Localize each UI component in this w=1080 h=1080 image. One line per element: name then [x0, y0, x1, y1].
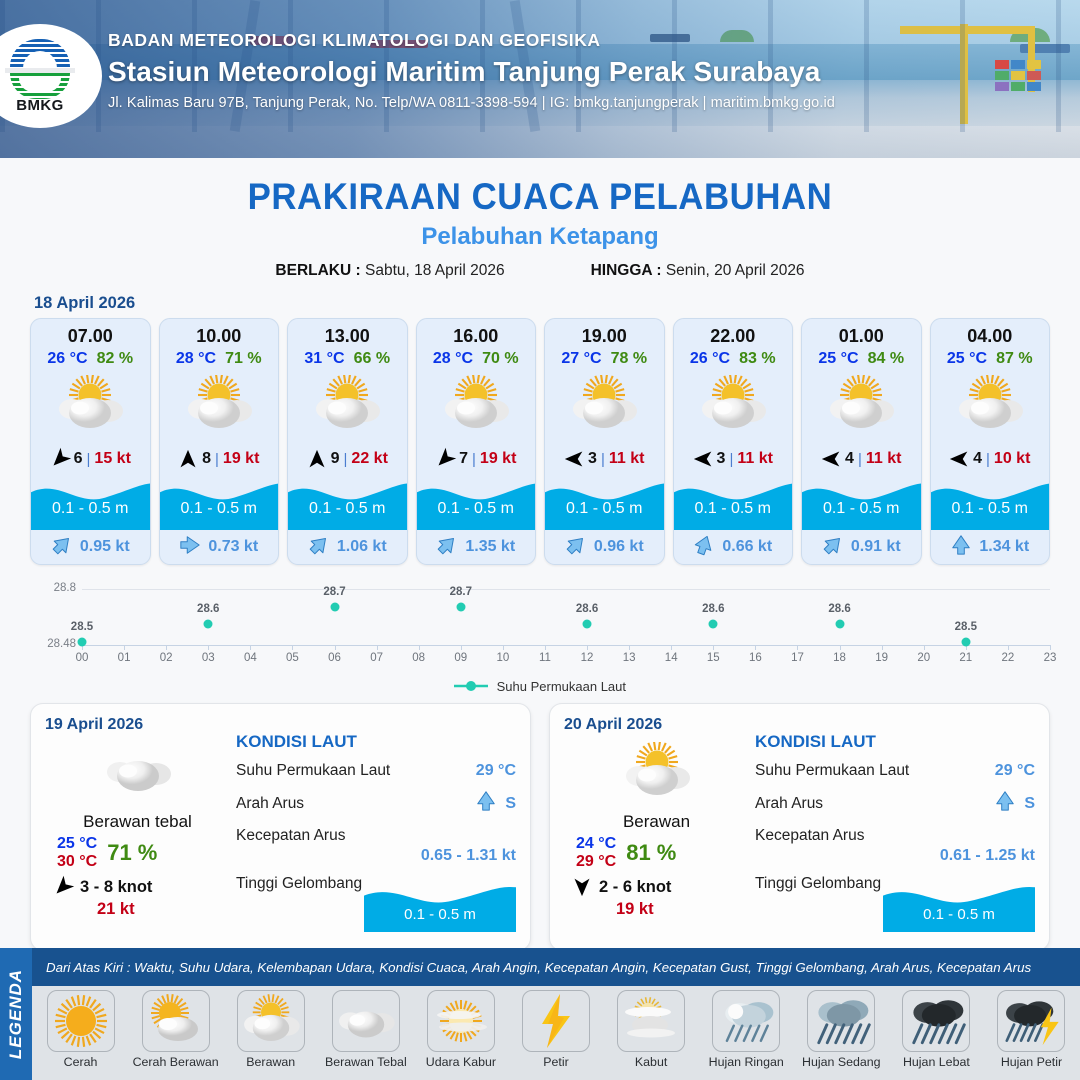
x-axis [82, 645, 1050, 646]
wind-direction-arrow-icon [821, 449, 841, 469]
daily-left-column: 20 April 2026 Berawan 24 °C 29 °C 81 % 2… [564, 716, 749, 936]
card-current-row: 0.95 kt [31, 530, 150, 564]
x-axis-tick-label: 20 [917, 652, 930, 664]
x-axis-tick [250, 645, 251, 650]
sst-legend-label: Suhu Permukaan Laut [497, 679, 626, 694]
legend-item-label: Berawan [224, 1055, 317, 1069]
current-direction-arrow-icon [822, 534, 844, 561]
data-point [961, 637, 970, 646]
wind-direction-arrow-icon [693, 449, 713, 469]
sun-behind-cloud-icon [31, 368, 150, 442]
y-axis-label-bottom: 28.48 [30, 638, 76, 650]
daily-forecast-card: 19 April 2026 Berawan tebal 25 °C 30 °C … [30, 703, 531, 951]
legend-item: Hujan Ringan [700, 990, 793, 1069]
sun-behind-cloud-icon [564, 738, 749, 806]
card-current-speed: 0.66 kt [722, 538, 772, 556]
hourly-card: 01.00 25 °C 84 % 4 | 11 kt 0.1 - 0.5 m [801, 318, 922, 565]
sst-chart-legend: Suhu Permukaan Laut [0, 679, 1080, 695]
legend-item-label: Hujan Ringan [700, 1055, 793, 1069]
data-point [583, 620, 592, 629]
daily-gust: 19 kt [564, 900, 749, 919]
x-axis-tick [208, 645, 209, 650]
daily-temp-col: 24 °C 29 °C [576, 835, 616, 871]
daily-wind-speed: 3 - 8 knot [80, 878, 152, 897]
card-temp-hum-row: 25 °C 87 % [931, 350, 1050, 368]
daily-temp-min: 24 °C [576, 835, 616, 853]
card-temp-hum-row: 28 °C 71 % [160, 350, 279, 368]
daily-date: 19 April 2026 [45, 716, 230, 734]
daily-humidity: 71 % [107, 840, 157, 866]
daily-temp-hum: 24 °C 29 °C 81 % [564, 835, 749, 871]
data-point-label: 28.7 [450, 586, 472, 598]
card-temperature: 25 °C [947, 350, 987, 368]
daily-wave-height: 0.1 - 0.5 m [883, 906, 1035, 923]
data-point [456, 602, 465, 611]
x-axis-tick [335, 645, 336, 650]
card-temp-hum-row: 25 °C 84 % [802, 350, 921, 368]
card-wave-height: 0.1 - 0.5 m [160, 500, 279, 518]
card-current-row: 0.96 kt [545, 530, 664, 564]
card-gust: 10 kt [994, 450, 1030, 468]
legend-item: Petir [509, 990, 602, 1069]
card-wind-row: 6 | 15 kt [31, 442, 150, 476]
card-wave-height: 0.1 - 0.5 m [802, 500, 921, 518]
wind-direction-arrow-icon [949, 449, 969, 469]
current-direction-label: Arah Arus [236, 795, 304, 813]
card-humidity: 71 % [225, 350, 261, 368]
card-temp-hum-row: 27 °C 78 % [545, 350, 664, 368]
card-humidity: 78 % [611, 350, 647, 368]
x-axis-tick [461, 645, 462, 650]
sst-value: 29 °C [476, 762, 516, 780]
data-point [835, 620, 844, 629]
legend-item-label: Cerah Berawan [129, 1055, 222, 1069]
station-name: Stasiun Meteorologi Maritim Tanjung Pera… [108, 56, 835, 88]
daily-wave-band: 0.1 - 0.5 m [883, 880, 1035, 932]
daily-wave-band: 0.1 - 0.5 m [364, 880, 516, 932]
card-temp-hum-row: 26 °C 83 % [674, 350, 793, 368]
heavy-rain-icon [902, 990, 970, 1052]
current-speed-row: Kecepatan Arus [236, 827, 516, 845]
agency-name: BADAN METEOROLOGI KLIMATOLOGI DAN GEOFIS… [108, 30, 835, 51]
card-humidity: 84 % [868, 350, 904, 368]
logo-text: BMKG [3, 97, 77, 114]
card-temperature: 28 °C [433, 350, 473, 368]
card-temperature: 27 °C [561, 350, 601, 368]
x-axis-tick [1050, 645, 1051, 650]
card-time: 13.00 [288, 319, 407, 347]
current-direction-arrow-icon [51, 534, 73, 561]
x-axis-tick [797, 645, 798, 650]
x-axis-tick [924, 645, 925, 650]
current-speed-row: Kecepatan Arus [755, 827, 1035, 845]
current-direction-value-group: S [994, 790, 1035, 817]
x-axis-tick [882, 645, 883, 650]
legend-item: Kabut [605, 990, 698, 1069]
card-temperature: 31 °C [304, 350, 344, 368]
wind-direction-arrow-icon [572, 877, 592, 897]
card-humidity: 70 % [482, 350, 518, 368]
sun-behind-cloud-icon [802, 368, 921, 442]
card-gust: 11 kt [609, 450, 645, 468]
current-direction-row: Arah Arus S [236, 790, 516, 817]
daily-forecast-card: 20 April 2026 Berawan 24 °C 29 °C 81 % 2… [549, 703, 1050, 951]
daily-humidity: 81 % [626, 840, 676, 866]
card-time: 04.00 [931, 319, 1050, 347]
card-wave-band: 0.1 - 0.5 m [417, 476, 536, 530]
x-axis-tick-label: 11 [539, 652, 551, 664]
legend-item: Cerah [34, 990, 127, 1069]
card-time: 16.00 [417, 319, 536, 347]
card-gust: 11 kt [737, 450, 773, 468]
wind-direction-arrow-icon [53, 877, 73, 897]
daily-temp-max: 29 °C [576, 853, 616, 871]
berlaku-group: BERLAKU : Sabtu, 18 April 2026 [275, 262, 504, 280]
current-direction-value: S [505, 795, 516, 813]
daily-wind-row: 2 - 6 knot [564, 877, 749, 897]
x-axis-tick-label: 12 [581, 652, 594, 664]
header-text-block: BADAN METEOROLOGI KLIMATOLOGI DAN GEOFIS… [108, 30, 835, 111]
lightning-icon [522, 990, 590, 1052]
daily-forecast-row: 19 April 2026 Berawan tebal 25 °C 30 °C … [0, 695, 1080, 951]
card-time: 19.00 [545, 319, 664, 347]
card-current-speed: 1.06 kt [337, 538, 387, 556]
card-humidity: 83 % [739, 350, 775, 368]
x-axis-tick-label: 02 [160, 652, 173, 664]
x-axis-tick-label: 15 [707, 652, 720, 664]
hourly-card: 19.00 27 °C 78 % 3 | 11 kt 0.1 - 0.5 m [544, 318, 665, 565]
card-wind-speed: 8 [202, 450, 211, 468]
wind-direction-arrow-icon [178, 449, 198, 469]
sun-behind-cloud-icon [545, 368, 664, 442]
page-title: PRAKIRAAN CUACA PELABUHAN [32, 176, 1047, 218]
card-time: 07.00 [31, 319, 150, 347]
current-direction-arrow-icon [565, 534, 587, 561]
card-humidity: 87 % [996, 350, 1032, 368]
daily-sea-conditions: KONDISI LAUT Suhu Permukaan Laut 29 °C A… [749, 716, 1035, 936]
card-current-speed: 0.91 kt [851, 538, 901, 556]
data-point [78, 637, 87, 646]
legend-section: LEGENDA Dari Atas Kiri : Waktu, Suhu Uda… [0, 948, 1080, 1080]
sst-chart-plot: 28.828.480001020304050607080910111213141… [30, 579, 1050, 661]
x-axis-tick-label: 23 [1044, 652, 1057, 664]
card-wind-speed: 6 [74, 450, 83, 468]
current-direction-arrow-icon [950, 534, 972, 561]
current-direction-arrow-icon [308, 534, 330, 561]
card-wind-row: 7 | 19 kt [417, 442, 536, 476]
daily-temp-hum: 25 °C 30 °C 71 % [45, 835, 230, 871]
card-wave-band: 0.1 - 0.5 m [160, 476, 279, 530]
wave-height-label: Tinggi Gelombang [236, 875, 362, 893]
current-speed-label: Kecepatan Arus [236, 827, 345, 845]
x-axis-tick-label: 22 [1002, 652, 1015, 664]
card-temperature: 25 °C [818, 350, 858, 368]
card-wave-band: 0.1 - 0.5 m [31, 476, 150, 530]
x-axis-tick-label: 05 [286, 652, 299, 664]
card-wind-row: 3 | 11 kt [674, 442, 793, 476]
legend-item: Hujan Sedang [795, 990, 888, 1069]
hourly-date-label: 18 April 2026 [34, 294, 1080, 313]
sun-behind-small-cloud-icon [142, 990, 210, 1052]
x-axis-tick [713, 645, 714, 650]
moderate-rain-icon [807, 990, 875, 1052]
x-axis-tick-label: 14 [665, 652, 678, 664]
sea-conditions-title: KONDISI LAUT [236, 732, 516, 752]
legend-side-label: LEGENDA [6, 969, 26, 1059]
x-axis-tick-label: 17 [791, 652, 804, 664]
x-axis-tick [840, 645, 841, 650]
separator: | [87, 451, 91, 468]
card-wind-speed: 9 [331, 450, 340, 468]
cloud-icon [332, 990, 400, 1052]
hourly-card: 16.00 28 °C 70 % 7 | 19 kt 0.1 - 0.5 m [416, 318, 537, 565]
card-wave-height: 0.1 - 0.5 m [31, 500, 150, 518]
daily-condition: Berawan tebal [45, 812, 230, 832]
daily-wind-speed: 2 - 6 knot [599, 878, 671, 897]
card-current-row: 0.73 kt [160, 530, 279, 564]
card-current-row: 1.06 kt [288, 530, 407, 564]
card-temperature: 26 °C [47, 350, 87, 368]
hourly-card: 04.00 25 °C 87 % 4 | 10 kt 0.1 - 0.5 m [930, 318, 1051, 565]
daily-condition: Berawan [564, 812, 749, 832]
current-direction-row: Arah Arus S [755, 790, 1035, 817]
card-current-row: 1.34 kt [931, 530, 1050, 564]
data-point [204, 620, 213, 629]
daily-temp-max: 30 °C [57, 853, 97, 871]
berlaku-label: BERLAKU : [275, 262, 360, 279]
daily-temp-min: 25 °C [57, 835, 97, 853]
legend-item-label: Berawan Tebal [319, 1055, 412, 1069]
daily-date: 20 April 2026 [564, 716, 749, 734]
card-wave-band: 0.1 - 0.5 m [545, 476, 664, 530]
current-speed-value: 0.61 - 1.25 kt [755, 847, 1035, 865]
data-point-label: 28.6 [197, 603, 219, 615]
sst-value: 29 °C [995, 762, 1035, 780]
separator: | [344, 451, 348, 468]
page-header: BMKG BADAN METEOROLOGI KLIMATOLOGI DAN G… [0, 0, 1080, 158]
daily-sea-conditions: KONDISI LAUT Suhu Permukaan Laut 29 °C A… [230, 716, 516, 936]
x-axis-tick [419, 645, 420, 650]
page-subtitle: Pelabuhan Ketapang [0, 223, 1080, 251]
x-axis-tick [503, 645, 504, 650]
current-direction-label: Arah Arus [755, 795, 823, 813]
hourly-card: 07.00 26 °C 82 % 6 | 15 kt 0.1 - 0.5 m [30, 318, 151, 565]
legend-item: Udara Kabur [414, 990, 507, 1069]
card-wind-speed: 7 [459, 450, 468, 468]
x-axis-tick-label: 21 [959, 652, 972, 664]
separator: | [986, 451, 990, 468]
card-wave-height: 0.1 - 0.5 m [288, 500, 407, 518]
card-wind-speed: 3 [717, 450, 726, 468]
card-current-speed: 0.73 kt [208, 538, 258, 556]
legend-side-tab: LEGENDA [0, 948, 32, 1080]
x-axis-tick-label: 18 [833, 652, 846, 664]
x-axis-tick-label: 16 [749, 652, 762, 664]
data-point-label: 28.6 [576, 603, 598, 615]
sun-behind-cloud-icon [674, 368, 793, 442]
wind-direction-arrow-icon [307, 449, 327, 469]
card-current-row: 0.66 kt [674, 530, 793, 564]
card-gust: 11 kt [866, 450, 902, 468]
card-wind-speed: 4 [845, 450, 854, 468]
sst-row: Suhu Permukaan Laut 29 °C [755, 762, 1035, 780]
card-current-row: 1.35 kt [417, 530, 536, 564]
card-wind-row: 9 | 22 kt [288, 442, 407, 476]
legend-note: Dari Atas Kiri : Waktu, Suhu Udara, Kele… [32, 960, 1031, 975]
sun-icon [47, 990, 115, 1052]
light-rain-icon [712, 990, 780, 1052]
legend-item-label: Hujan Sedang [795, 1055, 888, 1069]
card-gust: 15 kt [94, 450, 130, 468]
daily-temp-col: 25 °C 30 °C [57, 835, 97, 871]
card-temperature: 28 °C [176, 350, 216, 368]
hingga-label: HINGGA : [591, 262, 662, 279]
card-wind-row: 3 | 11 kt [545, 442, 664, 476]
card-humidity: 66 % [354, 350, 390, 368]
card-time: 22.00 [674, 319, 793, 347]
data-point-label: 28.6 [828, 603, 850, 615]
current-direction-arrow-icon [994, 790, 1016, 817]
legend-item-label: Hujan Lebat [890, 1055, 983, 1069]
separator: | [858, 451, 862, 468]
separator: | [472, 451, 476, 468]
card-wave-height: 0.1 - 0.5 m [545, 500, 664, 518]
sun-behind-cloud-icon [931, 368, 1050, 442]
card-time: 10.00 [160, 319, 279, 347]
legend-item: Cerah Berawan [129, 990, 222, 1069]
x-axis-tick-label: 06 [328, 652, 341, 664]
x-axis-tick-label: 08 [412, 652, 425, 664]
card-current-speed: 1.34 kt [979, 538, 1029, 556]
card-temp-hum-row: 26 °C 82 % [31, 350, 150, 368]
x-axis-tick [1008, 645, 1009, 650]
card-wave-band: 0.1 - 0.5 m [288, 476, 407, 530]
sun-behind-cloud-icon [417, 368, 536, 442]
card-wave-band: 0.1 - 0.5 m [674, 476, 793, 530]
card-wind-row: 4 | 10 kt [931, 442, 1050, 476]
hourly-forecast-row: 07.00 26 °C 82 % 6 | 15 kt 0.1 - 0.5 m [0, 318, 1080, 565]
title-block: PRAKIRAAN CUACA PELABUHAN Pelabuhan Keta… [0, 176, 1080, 251]
x-axis-tick-label: 13 [623, 652, 636, 664]
data-point [330, 602, 339, 611]
separator: | [729, 451, 733, 468]
data-point-label: 28.5 [71, 621, 93, 633]
x-axis-tick-label: 03 [202, 652, 215, 664]
current-direction-arrow-icon [179, 534, 201, 561]
data-point [709, 620, 718, 629]
x-axis-tick [124, 645, 125, 650]
sst-row: Suhu Permukaan Laut 29 °C [236, 762, 516, 780]
card-temperature: 26 °C [690, 350, 730, 368]
sun-behind-cloud-icon [160, 368, 279, 442]
card-gust: 22 kt [351, 450, 387, 468]
cloud-icon [45, 738, 230, 806]
daily-wave-height: 0.1 - 0.5 m [364, 906, 516, 923]
x-axis-tick [377, 645, 378, 650]
daily-wind-row: 3 - 8 knot [45, 877, 230, 897]
gridline [82, 589, 1050, 590]
hingga-value: Senin, 20 April 2026 [666, 262, 805, 279]
current-direction-value: S [1024, 795, 1035, 813]
x-axis-tick-label: 07 [370, 652, 383, 664]
current-direction-arrow-icon [475, 790, 497, 817]
daily-left-column: 19 April 2026 Berawan tebal 25 °C 30 °C … [45, 716, 230, 936]
separator: | [601, 451, 605, 468]
data-point-label: 28.7 [323, 586, 345, 598]
separator: | [215, 451, 219, 468]
legend-icon-row: Cerah Cerah Berawan Berawan Berawan Teba… [34, 990, 1078, 1069]
legend-item-label: Udara Kabur [414, 1055, 507, 1069]
card-temp-hum-row: 28 °C 70 % [417, 350, 536, 368]
card-gust: 19 kt [480, 450, 516, 468]
card-current-speed: 1.35 kt [465, 538, 515, 556]
legend-item: Berawan [224, 990, 317, 1069]
card-current-speed: 0.95 kt [80, 538, 130, 556]
x-axis-tick-label: 10 [496, 652, 509, 664]
card-temp-hum-row: 31 °C 66 % [288, 350, 407, 368]
x-axis-tick [671, 645, 672, 650]
hingga-group: HINGGA : Senin, 20 April 2026 [591, 262, 805, 280]
legend-item: Hujan Petir [985, 990, 1078, 1069]
thunderstorm-icon [997, 990, 1065, 1052]
wind-direction-arrow-icon [435, 449, 455, 469]
wind-direction-arrow-icon [564, 449, 584, 469]
fog-icon [617, 990, 685, 1052]
x-axis-tick [166, 645, 167, 650]
card-time: 01.00 [802, 319, 921, 347]
card-humidity: 82 % [97, 350, 133, 368]
x-axis-tick [755, 645, 756, 650]
x-axis-tick [545, 645, 546, 650]
daily-gust: 21 kt [45, 900, 230, 919]
y-axis-label-top: 28.8 [30, 582, 76, 594]
legend-item-label: Cerah [34, 1055, 127, 1069]
card-gust: 19 kt [223, 450, 259, 468]
legend-item-label: Petir [509, 1055, 602, 1069]
hourly-card: 22.00 26 °C 83 % 3 | 11 kt 0.1 - 0.5 m [673, 318, 794, 565]
x-axis-tick [292, 645, 293, 650]
sst-chart: 28.828.480001020304050607080910111213141… [0, 579, 1080, 675]
wave-height-label: Tinggi Gelombang [755, 875, 881, 893]
sst-label: Suhu Permukaan Laut [236, 762, 390, 780]
sun-behind-cloud-icon [288, 368, 407, 442]
sea-conditions-title: KONDISI LAUT [755, 732, 1035, 752]
sun-behind-cloud-icon [237, 990, 305, 1052]
current-direction-value-group: S [475, 790, 516, 817]
validity-row: BERLAKU : Sabtu, 18 April 2026 HINGGA : … [0, 262, 1080, 280]
card-current-speed: 0.96 kt [594, 538, 644, 556]
haze-icon [427, 990, 495, 1052]
x-axis-tick-label: 00 [76, 652, 89, 664]
x-axis-tick-label: 01 [118, 652, 131, 664]
card-current-row: 0.91 kt [802, 530, 921, 564]
card-wave-band: 0.1 - 0.5 m [802, 476, 921, 530]
sst-label: Suhu Permukaan Laut [755, 762, 909, 780]
hourly-card: 10.00 28 °C 71 % 8 | 19 kt 0.1 - 0.5 m [159, 318, 280, 565]
x-axis-tick-label: 09 [454, 652, 467, 664]
x-axis-tick-label: 19 [875, 652, 888, 664]
x-axis-tick [587, 645, 588, 650]
sst-legend-marker [454, 680, 488, 695]
hourly-card: 13.00 31 °C 66 % 9 | 22 kt 0.1 - 0.5 m [287, 318, 408, 565]
legend-item: Hujan Lebat [890, 990, 983, 1069]
x-axis-tick-label: 04 [244, 652, 257, 664]
legend-item-label: Kabut [605, 1055, 698, 1069]
card-wind-row: 8 | 19 kt [160, 442, 279, 476]
card-wind-row: 4 | 11 kt [802, 442, 921, 476]
legend-item: Berawan Tebal [319, 990, 412, 1069]
card-wind-speed: 3 [588, 450, 597, 468]
